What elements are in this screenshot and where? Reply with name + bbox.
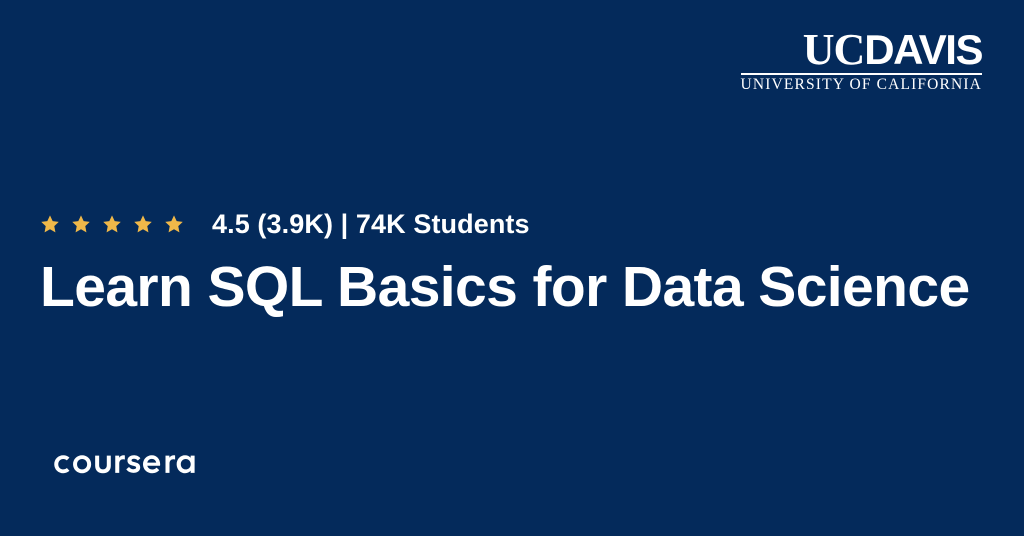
uc-davis-wordmark: UCDAVIS <box>741 30 982 70</box>
uc-davis-abbrev-uc: UC <box>803 25 865 74</box>
coursera-wordmark <box>50 446 210 478</box>
star-icon <box>164 214 184 234</box>
star-rating <box>40 214 184 234</box>
course-promo-banner: UCDAVIS UNIVERSITY OF CALIFORNIA 4.5 (3.… <box>0 0 1024 536</box>
rating-summary-text: 4.5 (3.9K) | 74K Students <box>212 209 530 240</box>
course-title: Learn SQL Basics for Data Science <box>40 258 984 318</box>
uc-davis-abbrev-davis: DAVIS <box>864 26 982 73</box>
rating-row: 4.5 (3.9K) | 74K Students <box>40 206 530 242</box>
coursera-logo <box>50 444 210 480</box>
uc-davis-logo: UCDAVIS UNIVERSITY OF CALIFORNIA <box>741 30 982 92</box>
star-icon <box>102 214 122 234</box>
uc-davis-tagline: UNIVERSITY OF CALIFORNIA <box>741 77 982 93</box>
star-icon <box>40 214 60 234</box>
star-icon <box>133 214 153 234</box>
star-icon <box>71 214 91 234</box>
